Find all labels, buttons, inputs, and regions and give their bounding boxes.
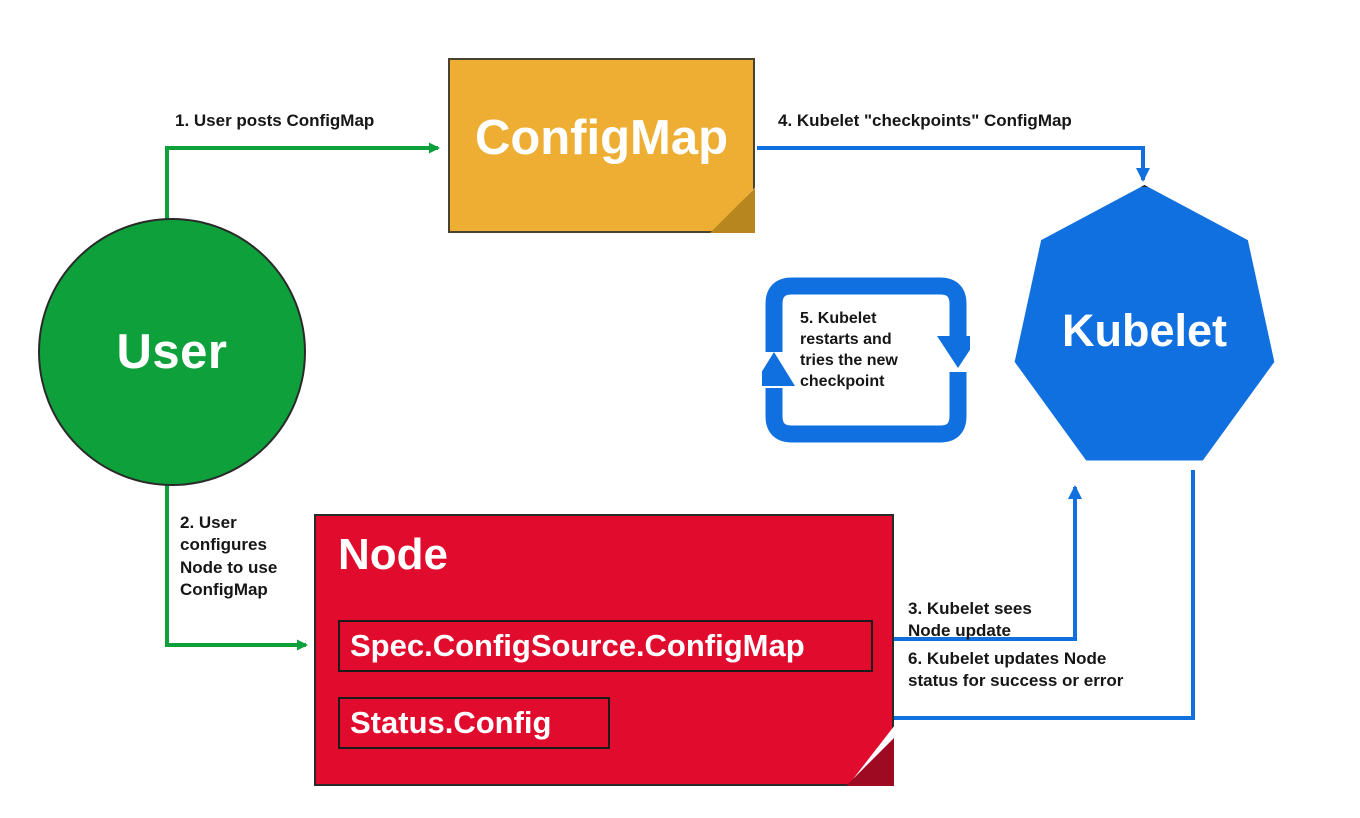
field-spec-configsource-configmap[interactable]: Spec.ConfigSource.ConfigMap bbox=[338, 620, 873, 672]
node-user[interactable]: User bbox=[38, 218, 306, 486]
node-node-label: Node bbox=[338, 532, 448, 578]
field-spec-label: Spec.ConfigSource.ConfigMap bbox=[350, 628, 805, 664]
step-label-6: 6. Kubelet updates Node status for succe… bbox=[908, 648, 1123, 693]
wire-step-4 bbox=[757, 148, 1143, 180]
field-status-label: Status.Config bbox=[350, 705, 552, 741]
node-node[interactable]: Node Spec.ConfigSource.ConfigMap Status.… bbox=[314, 514, 894, 786]
step-label-1: 1. User posts ConfigMap bbox=[175, 110, 374, 132]
step-label-3: 3. Kubelet sees Node update bbox=[908, 598, 1032, 643]
step-label-2: 2. User configures Node to use ConfigMap bbox=[180, 512, 277, 602]
diagram-canvas: User ConfigMap Kubelet Node Spec.ConfigS… bbox=[0, 0, 1360, 818]
step-label-4: 4. Kubelet "checkpoints" ConfigMap bbox=[778, 110, 1072, 132]
field-status-config[interactable]: Status.Config bbox=[338, 697, 610, 749]
node-configmap[interactable]: ConfigMap bbox=[448, 58, 755, 233]
node-configmap-label: ConfigMap bbox=[448, 58, 755, 233]
node-kubelet[interactable]: Kubelet bbox=[1012, 185, 1277, 475]
step-label-5: 5. Kubelet restarts and tries the new ch… bbox=[800, 308, 898, 392]
node-user-label: User bbox=[117, 328, 228, 377]
node-kubelet-label: Kubelet bbox=[1012, 185, 1277, 475]
